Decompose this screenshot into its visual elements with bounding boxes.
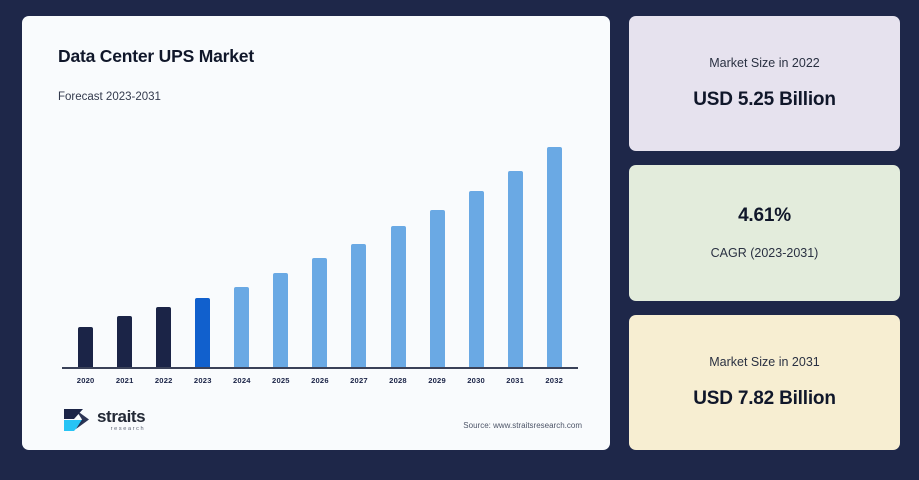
bar-slot xyxy=(68,137,103,369)
bar-2026[interactable] xyxy=(312,258,327,369)
x-tick-2024: 2024 xyxy=(224,376,259,385)
card-market-size-2022: Market Size in 2022USD 5.25 Billion xyxy=(629,16,900,151)
card-market-size-2031: Market Size in 2031USD 7.82 Billion xyxy=(629,315,900,450)
bar-2030[interactable] xyxy=(469,191,484,369)
x-tick-2023: 2023 xyxy=(185,376,220,385)
bar-slot xyxy=(537,137,572,369)
card-cagr: 4.61%CAGR (2023-2031) xyxy=(629,165,900,300)
x-tick-2026: 2026 xyxy=(302,376,337,385)
card-label: Market Size in 2022 xyxy=(709,56,819,70)
bar-slot xyxy=(263,137,298,369)
card-label: Market Size in 2031 xyxy=(709,355,819,369)
bar-2032[interactable] xyxy=(547,147,562,369)
bar-slot xyxy=(380,137,415,369)
bar-2027[interactable] xyxy=(351,244,366,369)
bar-2031[interactable] xyxy=(508,171,523,369)
x-tick-2022: 2022 xyxy=(146,376,181,385)
source-attribution: Source: www.straitsresearch.com xyxy=(463,421,582,430)
card-label: CAGR (2023-2031) xyxy=(711,246,819,260)
logo-wordmark: straits xyxy=(97,408,145,425)
chart-subtitle: Forecast 2023-2031 xyxy=(58,91,588,103)
bar-2024[interactable] xyxy=(234,287,249,369)
bar-2022[interactable] xyxy=(156,307,171,369)
bar-2029[interactable] xyxy=(430,210,445,369)
bar-slot xyxy=(107,137,142,369)
x-tick-2031: 2031 xyxy=(498,376,533,385)
bar-series xyxy=(62,137,578,369)
bar-chart-plot-area xyxy=(62,117,578,369)
bar-2021[interactable] xyxy=(117,316,132,369)
bar-2023[interactable] xyxy=(195,298,210,369)
chart-panel: Data Center UPS Market Forecast 2023-203… xyxy=(22,16,610,450)
stat-cards: Market Size in 2022USD 5.25 Billion4.61%… xyxy=(629,16,900,450)
x-axis-line xyxy=(62,367,578,369)
bar-slot xyxy=(224,137,259,369)
bar-slot xyxy=(419,137,454,369)
x-tick-2030: 2030 xyxy=(458,376,493,385)
logo-text: straits research xyxy=(97,408,145,433)
bar-slot xyxy=(185,137,220,369)
bar-2028[interactable] xyxy=(391,226,406,369)
card-value: 4.61% xyxy=(738,205,791,227)
card-value: USD 7.82 Billion xyxy=(693,388,836,410)
x-tick-2028: 2028 xyxy=(380,376,415,385)
logo-subtext: research xyxy=(97,427,145,433)
x-tick-2020: 2020 xyxy=(68,376,103,385)
bar-slot xyxy=(146,137,181,369)
x-tick-2032: 2032 xyxy=(537,376,572,385)
x-tick-2029: 2029 xyxy=(419,376,454,385)
infographic-root: Data Center UPS Market Forecast 2023-203… xyxy=(0,0,919,480)
bar-slot xyxy=(498,137,533,369)
page-title: Data Center UPS Market xyxy=(58,46,588,67)
x-axis-tick-labels: 2020202120222023202420252026202720282029… xyxy=(62,369,578,385)
bar-slot xyxy=(302,137,337,369)
straits-research-logo: straits research xyxy=(62,406,145,434)
x-tick-2027: 2027 xyxy=(341,376,376,385)
bar-2020[interactable] xyxy=(78,327,93,369)
x-tick-2021: 2021 xyxy=(107,376,142,385)
logo-arrow-icon xyxy=(62,406,92,434)
bar-2025[interactable] xyxy=(273,273,288,369)
x-tick-2025: 2025 xyxy=(263,376,298,385)
bar-slot xyxy=(458,137,493,369)
card-value: USD 5.25 Billion xyxy=(693,89,836,111)
panel-footer: straits research Source: www.straitsrese… xyxy=(44,406,588,436)
bar-slot xyxy=(341,137,376,369)
